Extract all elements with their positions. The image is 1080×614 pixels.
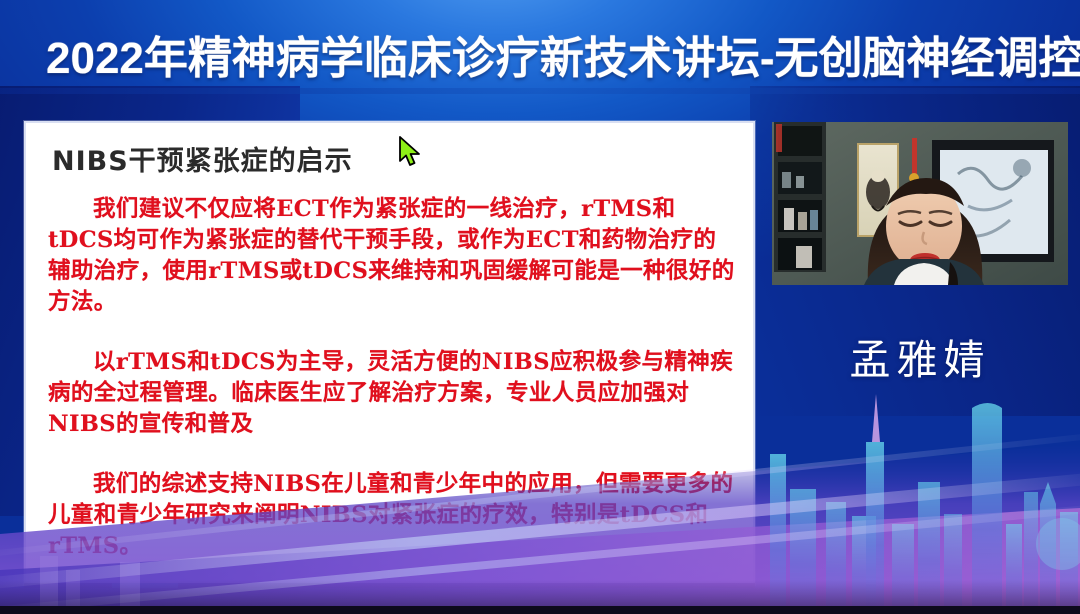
page-title: 2022年精神病学临床诊疗新技术讲坛-无创脑神经调控: [46, 22, 1080, 86]
webcam-video-feed[interactable]: [772, 122, 1068, 285]
title-banner: 2022年精神病学临床诊疗新技术讲坛-无创脑神经调控: [0, 0, 1080, 92]
slide-paragraph-1: 我们建议不仅应将ECT作为紧张症的一线治疗，rTMS和tDCS均可作为紧张症的替…: [48, 194, 735, 318]
webcam-frame-image: [772, 122, 1068, 285]
slide-heading: NIBS干预紧张症的启示: [52, 139, 753, 178]
presentation-screen: 2022年精神病学临床诊疗新技术讲坛-无创脑神经调控 NIBS干预紧张症的启示 …: [0, 0, 1080, 614]
speaker-name-label: 孟雅婧: [772, 326, 1068, 386]
city-skyline-graphic: [0, 384, 1080, 614]
